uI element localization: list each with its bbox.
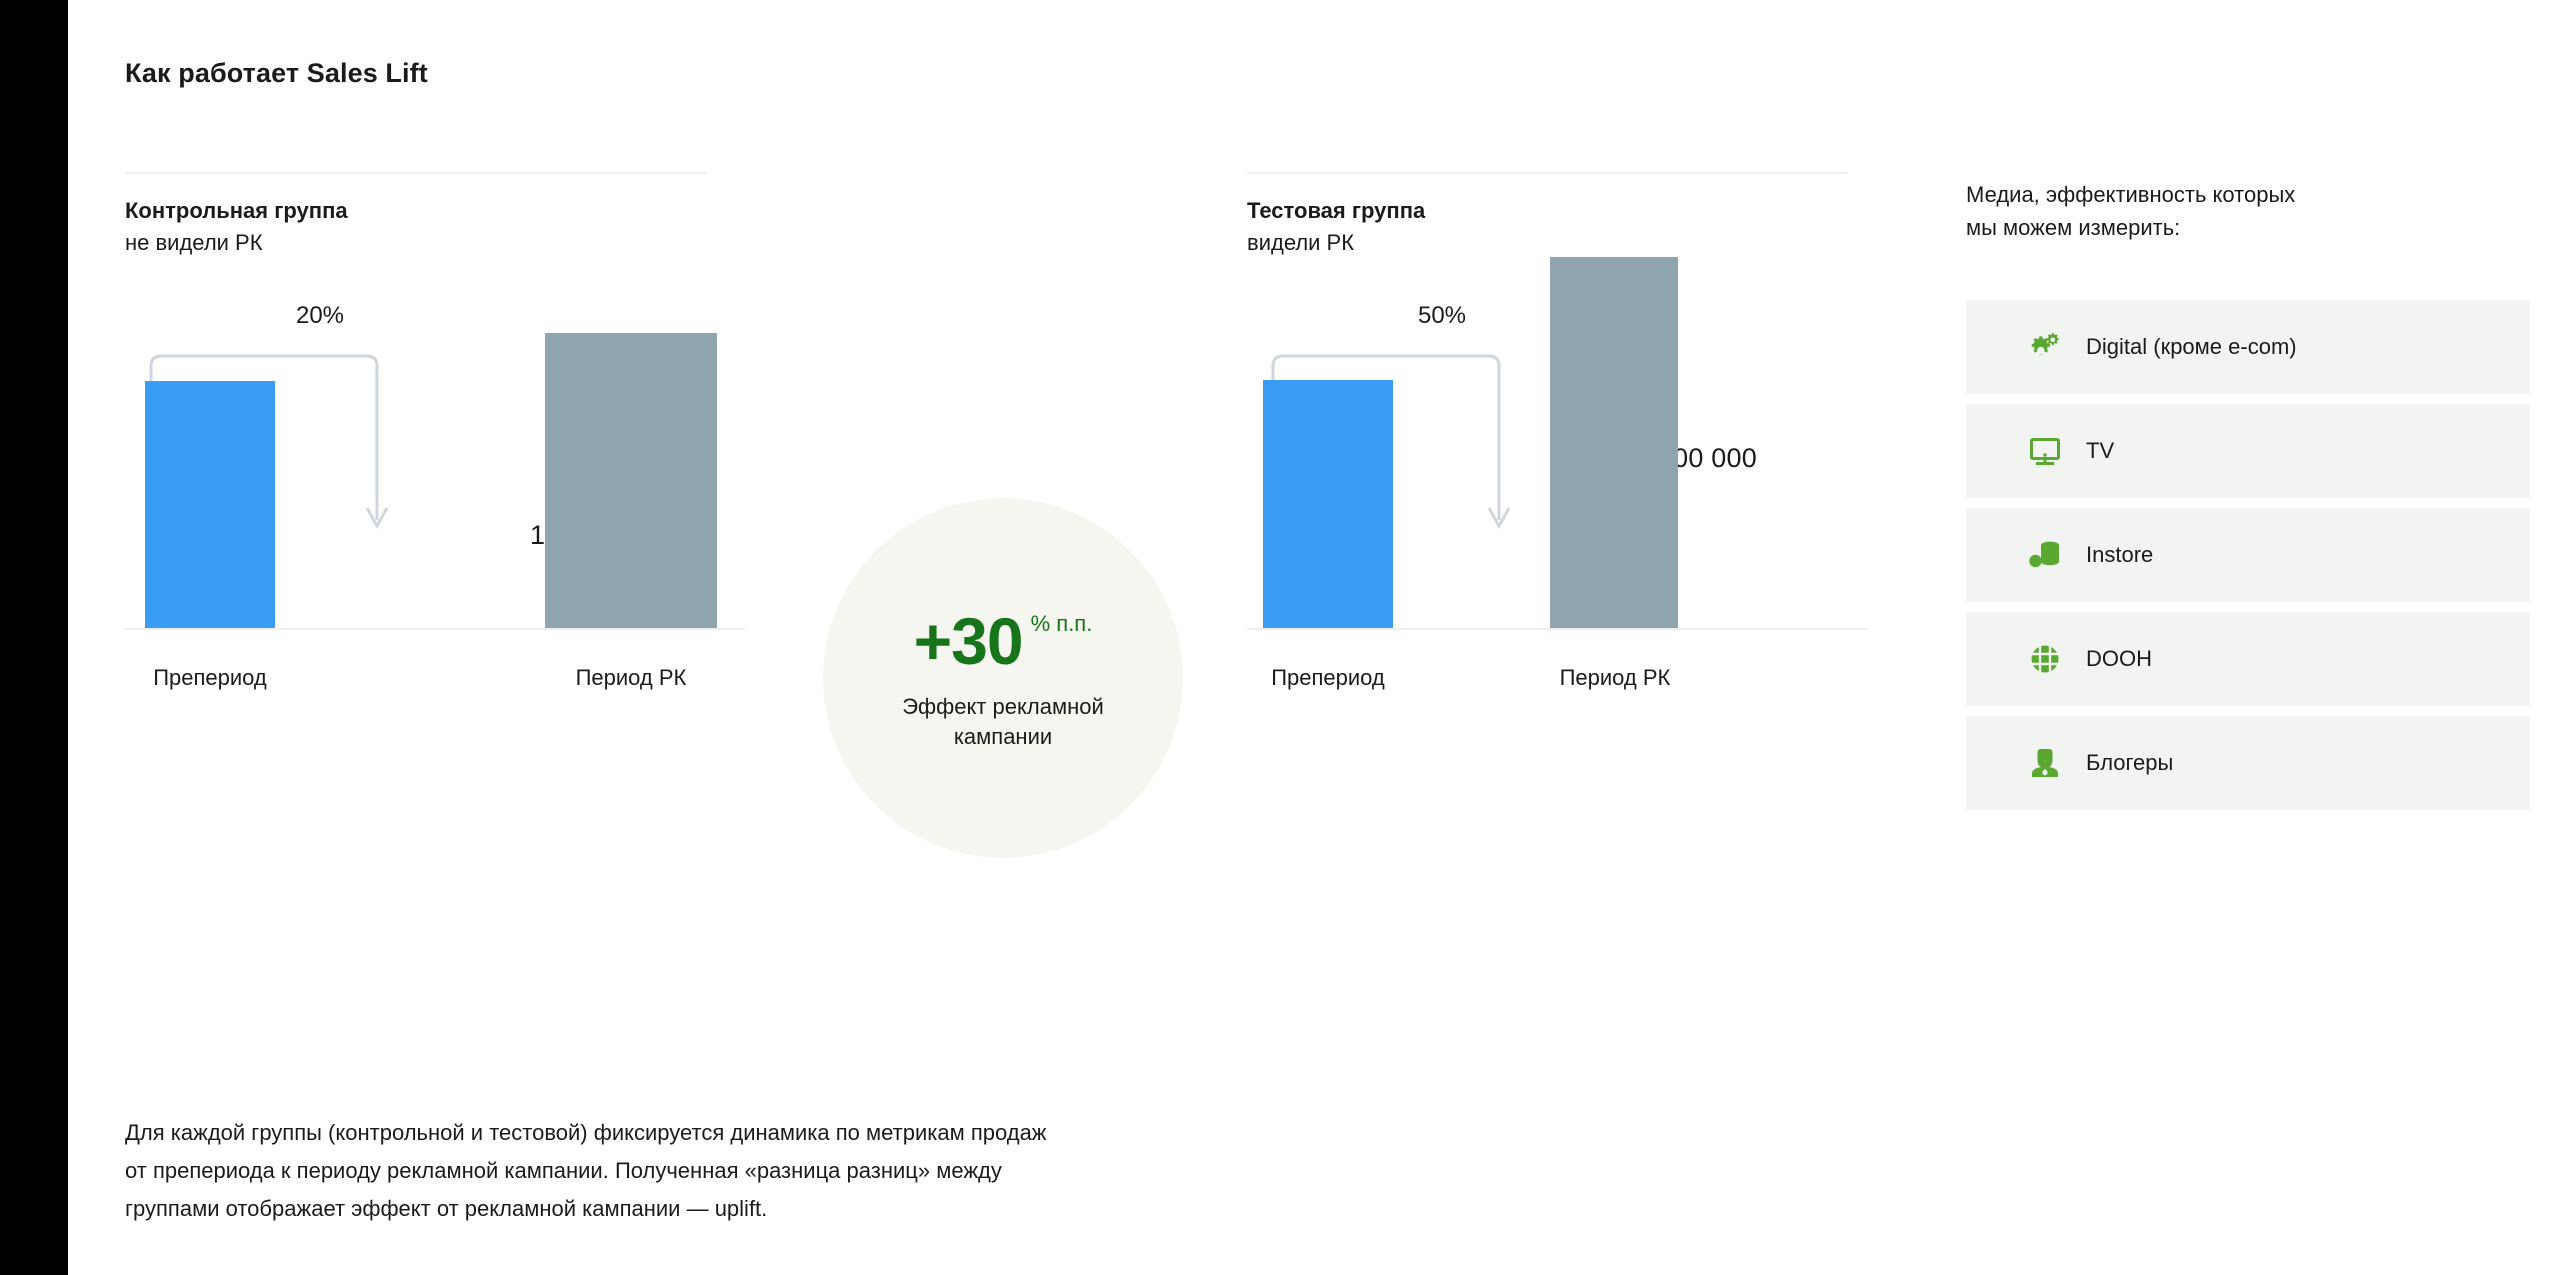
gears-icon: [2028, 330, 2062, 364]
test-campaign-bar: [1550, 257, 1678, 628]
control-group-chart: 20% 1 000 000 1 200 000 Препериод Период…: [125, 330, 745, 955]
monitor-icon: [2028, 434, 2062, 468]
effect-circle: +30 % п.п. Эффект рекламной кампании: [823, 498, 1183, 858]
control-campaign-bar: [545, 333, 717, 628]
media-card-bloggers[interactable]: Блогеры: [1966, 716, 2530, 810]
control-category-pre: Препериод: [90, 665, 330, 691]
test-category-pre: Препериод: [1208, 665, 1448, 691]
effect-value: +30: [914, 608, 1023, 674]
test-pre-bar: [1263, 380, 1393, 628]
test-category-campaign: Период РК: [1495, 665, 1735, 691]
coins-icon: [2028, 538, 2062, 572]
control-growth-percent: 20%: [195, 302, 445, 330]
test-group-chart: 50% 1 000 000 1 500 000 Препериод Период…: [1247, 330, 1867, 955]
media-label-digital: Digital (кроме e-com): [2086, 334, 2297, 360]
test-group-heading: Тестовая группа видели РК: [1247, 195, 1425, 259]
control-group-heading: Контрольная группа не видели РК: [125, 195, 348, 259]
test-growth-percent: 50%: [1317, 302, 1567, 330]
globe-icon: [2028, 642, 2062, 676]
control-category-campaign: Период РК: [511, 665, 751, 691]
divider-control-group: [125, 172, 707, 174]
footnote-text: Для каждой группы (контрольной и тестово…: [125, 1114, 1425, 1228]
effect-value-row: +30 % п.п.: [914, 608, 1093, 674]
media-card-tv[interactable]: TV: [1966, 404, 2530, 498]
media-label-instore: Instore: [2086, 542, 2153, 568]
media-label-bloggers: Блогеры: [2086, 750, 2173, 776]
blogger-icon: [2028, 746, 2062, 780]
effect-caption: Эффект рекламной кампании: [868, 692, 1138, 752]
control-group-title: Контрольная группа: [125, 195, 348, 227]
divider-test-group: [1247, 172, 1847, 174]
left-rail: [0, 0, 68, 1275]
effect-unit: % п.п.: [1031, 611, 1093, 637]
media-card-instore[interactable]: Instore: [1966, 508, 2530, 602]
test-group-subtitle: видели РК: [1247, 227, 1425, 259]
media-card-dooh[interactable]: DOOH: [1966, 612, 2530, 706]
control-group-subtitle: не видели РК: [125, 227, 348, 259]
media-list: Digital (кроме e-com) TV: [1966, 300, 2530, 820]
page-title: Как работает Sales Lift: [125, 58, 428, 89]
test-group-title: Тестовая группа: [1247, 195, 1425, 227]
control-baseline: [125, 628, 745, 630]
media-label-dooh: DOOH: [2086, 646, 2152, 672]
control-pre-bar: [145, 381, 275, 628]
media-card-digital[interactable]: Digital (кроме e-com): [1966, 300, 2530, 394]
test-baseline: [1247, 628, 1867, 630]
media-label-tv: TV: [2086, 438, 2114, 464]
media-heading: Медиа, эффективность которых мы можем из…: [1966, 178, 2295, 244]
